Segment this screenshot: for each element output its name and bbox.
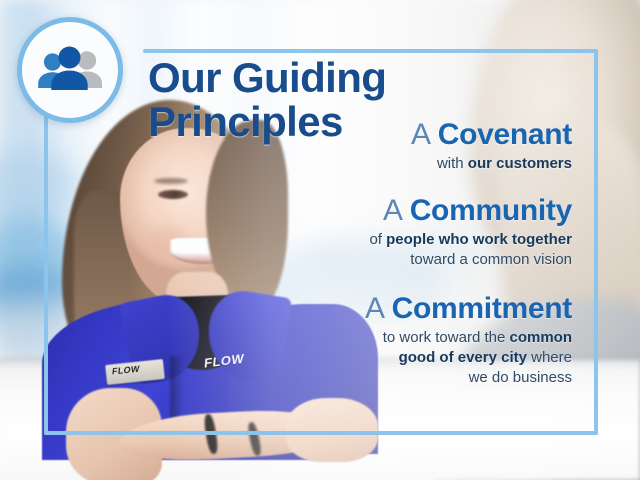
principle-article: A	[365, 292, 383, 325]
principle-subtext-emphasis: people who work together	[386, 231, 572, 248]
principle-article: A	[383, 194, 401, 227]
principles-list: A Covenant with our customers A Communit…	[150, 118, 594, 400]
principle-keyword: Commitment	[392, 292, 572, 325]
principle-keyword: Covenant	[438, 118, 572, 151]
photo-blur-blob	[0, 152, 80, 222]
principle-subtext-part: of	[369, 231, 386, 248]
principle-subtext-part: toward a common vision	[410, 251, 572, 268]
principle-subtext-part: where	[527, 349, 572, 366]
principle-subtext-part: with	[437, 155, 468, 172]
principle-article: A	[411, 118, 429, 151]
principle-subtext: with our customers	[150, 154, 572, 174]
group-people-badge	[17, 17, 123, 123]
principle-heading: A Covenant	[150, 118, 572, 152]
principle-item-commitment: A Commitment to work toward the common g…	[150, 292, 572, 388]
frame-border-right	[594, 49, 598, 435]
frame-border-bottom	[44, 431, 598, 435]
principle-keyword: Community	[410, 194, 572, 227]
employee-hands	[286, 398, 378, 462]
principle-subtext-part: we do business	[469, 369, 572, 386]
principle-subtext-emphasis: good of every city	[399, 349, 527, 366]
principle-subtext: to work toward the common good of every …	[150, 328, 572, 388]
principle-item-community: A Community of people who work together …	[150, 194, 572, 270]
frame-border-left	[44, 112, 48, 435]
principle-subtext-emphasis: our customers	[468, 155, 572, 172]
principle-subtext-part: to work toward the	[383, 329, 510, 346]
principle-heading: A Commitment	[150, 292, 572, 326]
promo-graphic: FLOW FLOW Our Guiding Principles	[0, 0, 640, 480]
frame-border-top	[143, 49, 598, 53]
principle-heading: A Community	[150, 194, 572, 228]
principle-subtext: of people who work together toward a com…	[150, 230, 572, 270]
principle-item-covenant: A Covenant with our customers	[150, 118, 572, 174]
group-people-icon	[34, 45, 106, 95]
principle-subtext-emphasis: common	[509, 329, 572, 346]
